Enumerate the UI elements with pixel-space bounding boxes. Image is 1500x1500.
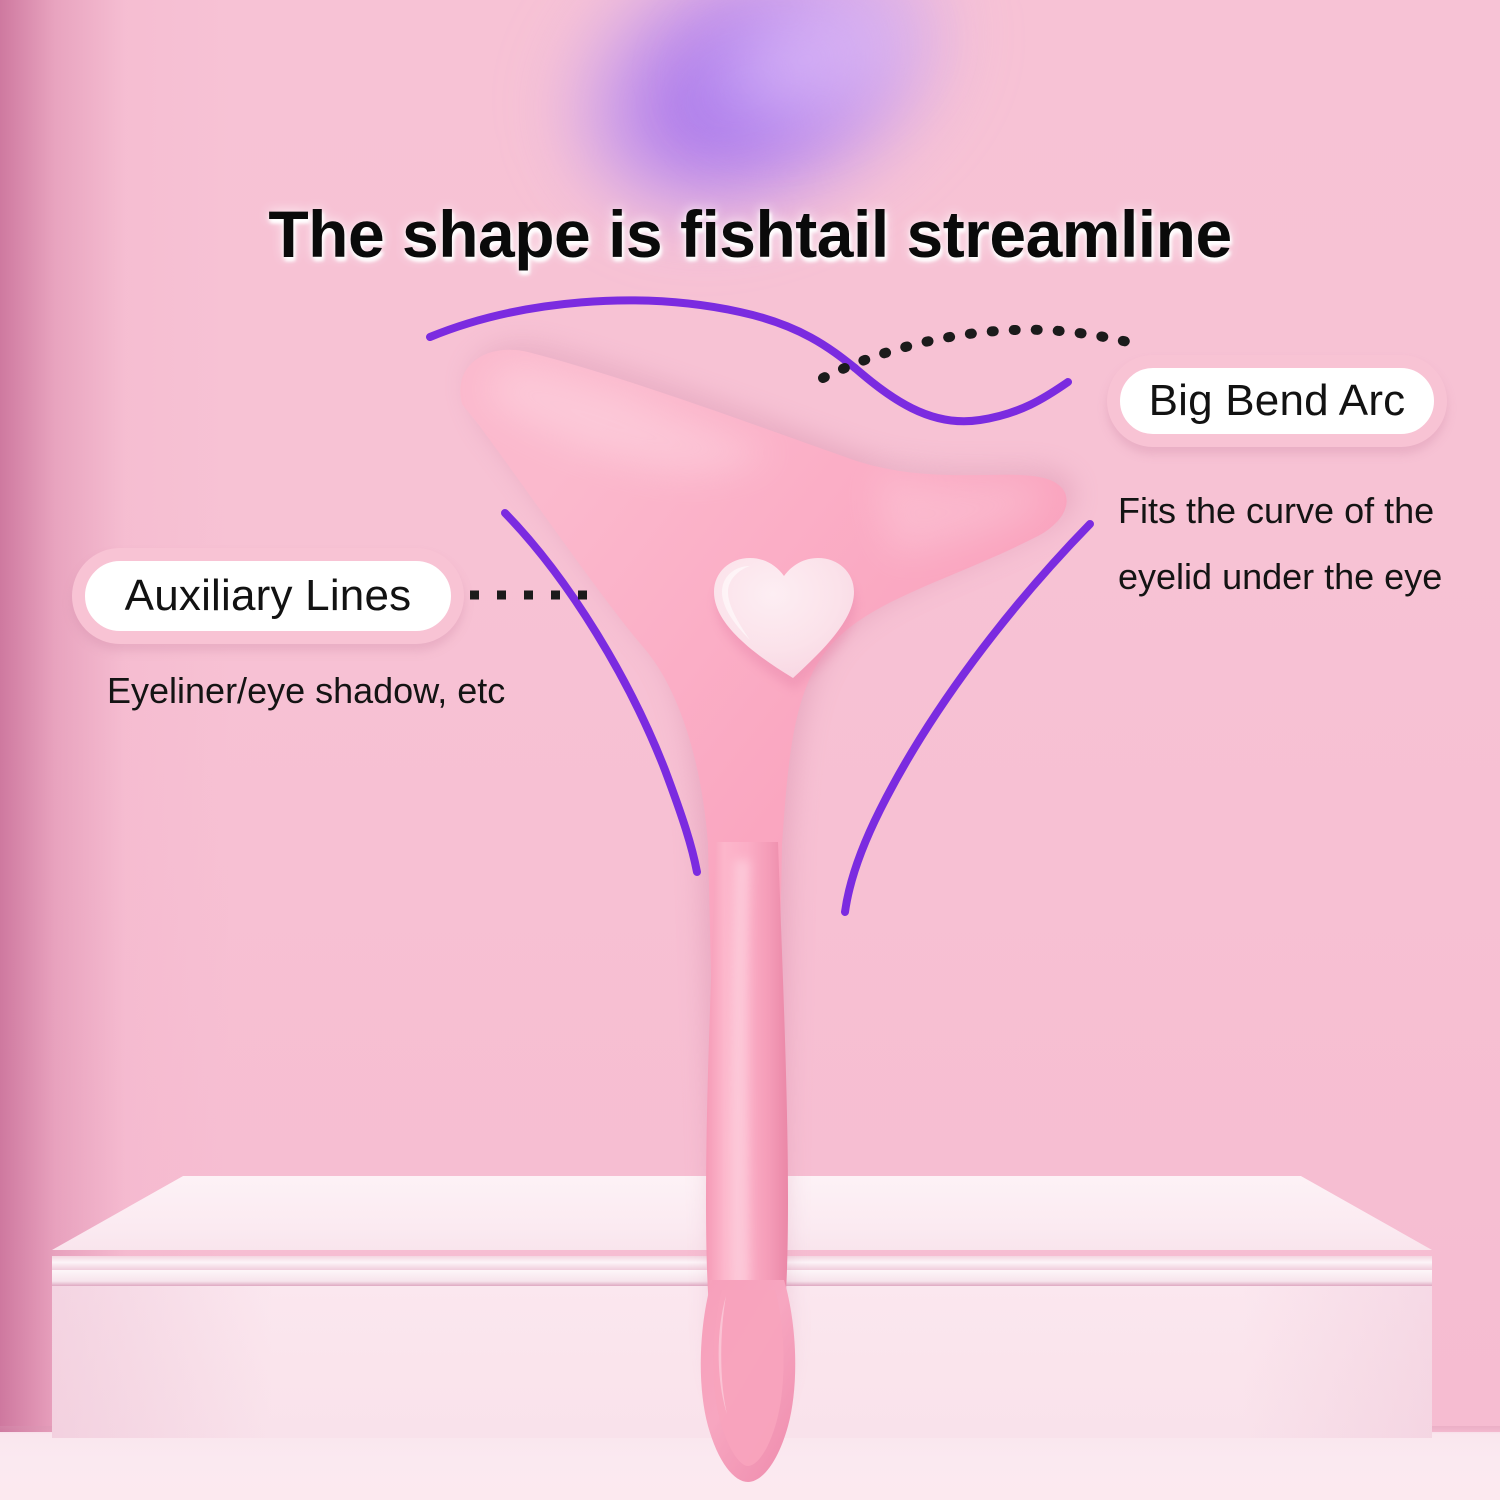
label-big-bend-arc-text: Big Bend Arc: [1149, 376, 1406, 426]
page-title: The shape is fishtail streamline: [0, 196, 1500, 272]
product-infographic: The shape is fishtail streamline Auxilia…: [0, 0, 1500, 1500]
label-big-bend-arc[interactable]: Big Bend Arc: [1107, 355, 1447, 447]
description-auxiliary-lines: Eyeliner/eye shadow, etc: [107, 658, 627, 724]
description-big-bend-arc: Fits the curve of the eyelid under the e…: [1118, 478, 1498, 610]
label-auxiliary-lines-text: Auxiliary Lines: [125, 571, 412, 621]
handle-highlight: [730, 860, 750, 1330]
label-auxiliary-lines[interactable]: Auxiliary Lines: [72, 548, 464, 644]
